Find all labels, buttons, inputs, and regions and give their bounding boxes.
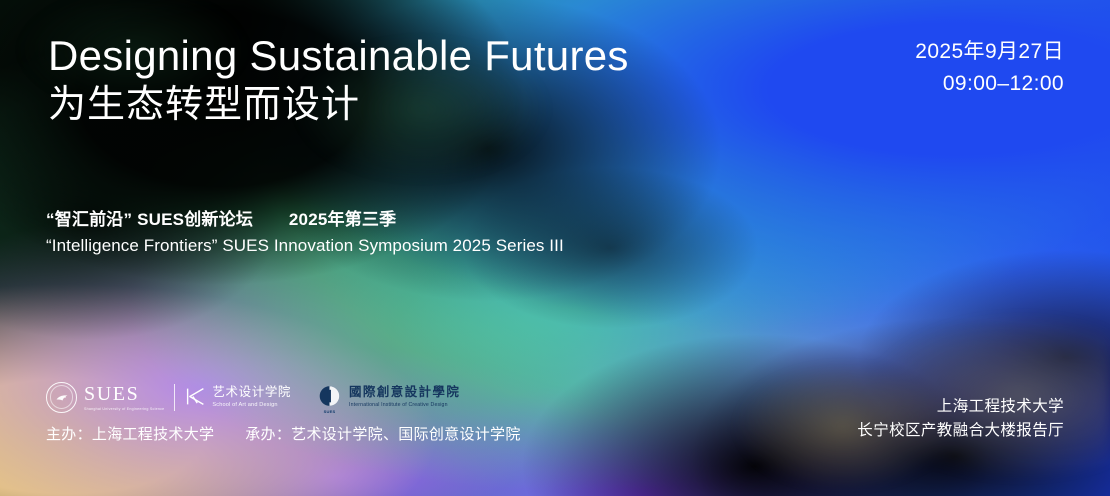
sues-wordmark: SUES (84, 384, 164, 404)
venue-institution: 上海工程技术大学 (857, 395, 1064, 419)
coorganizer-label: 承办：艺术设计学院、国际创意设计学院 (245, 426, 520, 443)
venue-block: 上海工程技术大学 长宁校区产教融合大楼报告厅 (857, 395, 1064, 443)
event-time: 09:00–12:00 (915, 68, 1064, 100)
series-line-chinese: “智汇前沿” SUES创新论坛 2025年第三季 (46, 207, 564, 233)
sues-logo: SUES Shanghai University of Engineering … (46, 381, 164, 413)
iicd-mark-wrap: SUES (317, 385, 342, 410)
page-title-chinese: 为生态转型而设计 (48, 83, 629, 129)
iicd-text: 國際創意設計學院 International Institute of Crea… (349, 386, 460, 409)
art-school-name-en: School of Art and Design (212, 402, 291, 409)
sues-subtitle: Shanghai University of Engineering Scien… (84, 407, 164, 411)
iicd-badge-label: SUES (324, 409, 336, 414)
organizer-label: 主办：上海工程技术大学 (46, 426, 214, 443)
sues-wordmark-group: SUES Shanghai University of Engineering … (84, 384, 164, 411)
art-school-k-mark-icon (185, 386, 206, 407)
series-block: “智汇前沿” SUES创新论坛 2025年第三季 “Intelligence F… (46, 207, 564, 259)
series-line-english: “Intelligence Frontiers” SUES Innovation… (46, 233, 564, 259)
school-of-art-logo: 艺术设计学院 School of Art and Design (185, 386, 291, 409)
iicd-circle-icon (317, 385, 342, 410)
hosts-line: 主办：上海工程技术大学 承办：艺术设计学院、国际创意设计学院 (46, 423, 521, 444)
sues-seal-emblem-icon (55, 393, 68, 403)
iicd-name-en: International Institute of Creative Desi… (349, 402, 460, 408)
logo-divider (174, 384, 175, 411)
series-season-chinese: 2025年第三季 (289, 210, 396, 229)
title-block: Designing Sustainable Futures 为生态转型而设计 (48, 32, 629, 129)
art-school-text: 艺术设计学院 School of Art and Design (212, 386, 291, 409)
iicd-name-cn: 國際創意設計學院 (349, 386, 460, 400)
datetime-block: 2025年9月27日 09:00–12:00 (915, 36, 1064, 99)
series-name-chinese: “智汇前沿” SUES创新论坛 (46, 210, 253, 229)
venue-hall: 长宁校区产教融合大楼报告厅 (857, 419, 1064, 443)
page-title-english: Designing Sustainable Futures (48, 32, 629, 79)
logo-row: SUES Shanghai University of Engineering … (46, 380, 460, 414)
iicd-logo: SUES 國際創意設計學院 International Institute of… (317, 385, 460, 410)
art-school-name-cn: 艺术设计学院 (212, 386, 291, 400)
event-date: 2025年9月27日 (915, 36, 1064, 68)
sues-seal-icon (46, 382, 77, 413)
event-poster: Designing Sustainable Futures 为生态转型而设计 2… (0, 0, 1110, 496)
